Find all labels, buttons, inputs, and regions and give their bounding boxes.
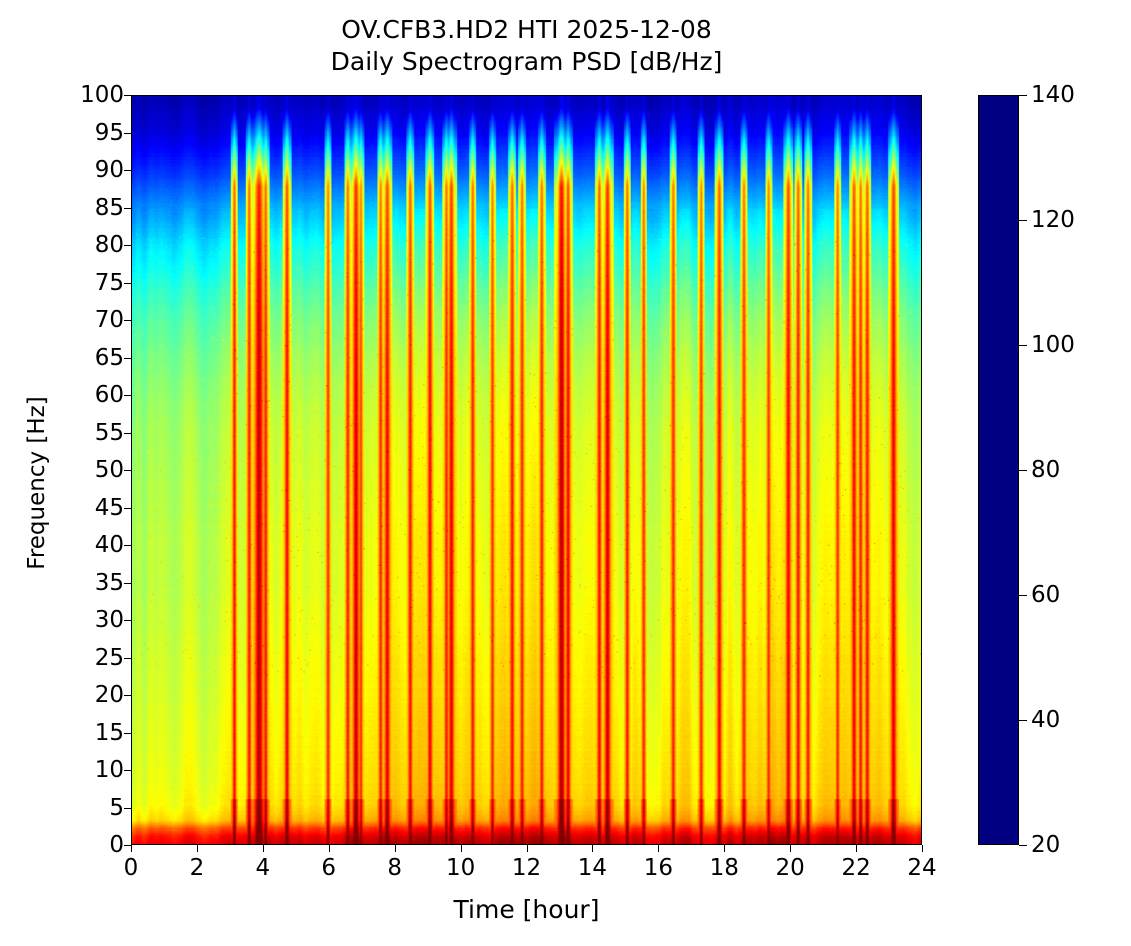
y-tick-label: 80 <box>95 232 124 258</box>
y-tick-label: 65 <box>95 345 124 371</box>
y-tick-label: 5 <box>109 795 124 821</box>
y-tick-label: 70 <box>95 307 124 333</box>
y-tick-label: 100 <box>80 82 124 108</box>
y-tick-mark <box>124 470 131 471</box>
x-tick-mark <box>922 845 923 852</box>
x-tick-label: 6 <box>321 855 336 881</box>
colorbar-tick-label: 60 <box>1031 582 1060 608</box>
x-tick-label: 20 <box>776 855 805 881</box>
colorbar-tick-labels: 20406080100120140 <box>1019 0 1131 946</box>
y-tick-label: 45 <box>95 495 124 521</box>
x-tick-mark <box>527 845 528 852</box>
x-tick-mark <box>461 845 462 852</box>
y-tick-mark <box>124 658 131 659</box>
colorbar-gradient <box>979 96 1018 844</box>
y-tick-mark <box>124 845 131 846</box>
y-axis-tick-labels: 0510152025303540455055606570758085909510… <box>0 0 124 946</box>
x-tick-mark <box>131 845 132 852</box>
x-tick-label: 18 <box>710 855 739 881</box>
x-tick-label: 24 <box>907 855 936 881</box>
y-tick-label: 60 <box>95 382 124 408</box>
y-tick-label: 85 <box>95 195 124 221</box>
x-tick-label: 16 <box>644 855 673 881</box>
colorbar-tick-mark <box>1019 595 1027 596</box>
colorbar-tick-mark <box>1019 220 1027 221</box>
y-axis-label: Frequency [Hz] <box>24 383 50 583</box>
y-tick-label: 55 <box>95 420 124 446</box>
x-tick-mark <box>658 845 659 852</box>
x-axis-label: Time [hour] <box>131 895 922 924</box>
y-tick-mark <box>124 695 131 696</box>
y-tick-label: 40 <box>95 532 124 558</box>
figure-title-line1: OV.CFB3.HD2 HTI 2025-12-08 <box>131 14 922 46</box>
y-tick-mark <box>124 508 131 509</box>
colorbar-tick-label: 20 <box>1031 832 1060 858</box>
x-tick-mark <box>197 845 198 852</box>
y-tick-mark <box>124 545 131 546</box>
y-tick-label: 30 <box>95 607 124 633</box>
y-tick-mark <box>124 320 131 321</box>
x-tick-label: 22 <box>841 855 870 881</box>
figure-title: OV.CFB3.HD2 HTI 2025-12-08 Daily Spectro… <box>131 14 922 78</box>
x-tick-mark <box>263 845 264 852</box>
y-tick-mark <box>124 583 131 584</box>
y-tick-label: 25 <box>95 645 124 671</box>
y-tick-mark <box>124 433 131 434</box>
colorbar-tick-mark <box>1019 720 1027 721</box>
colorbar-tick-label: 120 <box>1031 207 1075 233</box>
figure-title-line2: Daily Spectrogram PSD [dB/Hz] <box>131 46 922 78</box>
colorbar-tick-label: 100 <box>1031 332 1075 358</box>
y-tick-mark <box>124 245 131 246</box>
y-tick-mark <box>124 733 131 734</box>
y-tick-label: 0 <box>109 832 124 858</box>
colorbar-tick-label: 140 <box>1031 82 1075 108</box>
y-tick-label: 95 <box>95 120 124 146</box>
x-tick-label: 2 <box>190 855 205 881</box>
y-tick-label: 10 <box>95 757 124 783</box>
x-tick-label: 4 <box>256 855 271 881</box>
x-tick-label: 8 <box>387 855 402 881</box>
colorbar-tick-mark <box>1019 470 1027 471</box>
spectrogram-plot-area <box>131 95 922 845</box>
y-tick-label: 50 <box>95 457 124 483</box>
x-tick-mark <box>790 845 791 852</box>
colorbar-tick-label: 40 <box>1031 707 1060 733</box>
y-tick-mark <box>124 208 131 209</box>
y-tick-mark <box>124 358 131 359</box>
y-tick-label: 75 <box>95 270 124 296</box>
x-tick-mark <box>592 845 593 852</box>
x-tick-label: 14 <box>578 855 607 881</box>
y-tick-mark <box>124 770 131 771</box>
colorbar-tick-mark <box>1019 345 1027 346</box>
y-tick-label: 35 <box>95 570 124 596</box>
x-tick-label: 10 <box>446 855 475 881</box>
y-tick-mark <box>124 620 131 621</box>
y-tick-mark <box>124 283 131 284</box>
y-tick-mark <box>124 95 131 96</box>
colorbar-tick-mark <box>1019 95 1027 96</box>
y-tick-label: 90 <box>95 157 124 183</box>
x-tick-mark <box>856 845 857 852</box>
y-tick-label: 20 <box>95 682 124 708</box>
y-tick-label: 15 <box>95 720 124 746</box>
colorbar-tick-mark <box>1019 845 1027 846</box>
colorbar-tick-label: 80 <box>1031 457 1060 483</box>
x-tick-mark <box>395 845 396 852</box>
y-tick-mark <box>124 808 131 809</box>
y-tick-mark <box>124 133 131 134</box>
x-tick-label: 0 <box>124 855 139 881</box>
x-tick-mark <box>724 845 725 852</box>
x-tick-label: 12 <box>512 855 541 881</box>
spectrogram-image <box>132 96 921 844</box>
colorbar <box>978 95 1019 845</box>
y-tick-mark <box>124 170 131 171</box>
x-tick-mark <box>329 845 330 852</box>
y-tick-mark <box>124 395 131 396</box>
